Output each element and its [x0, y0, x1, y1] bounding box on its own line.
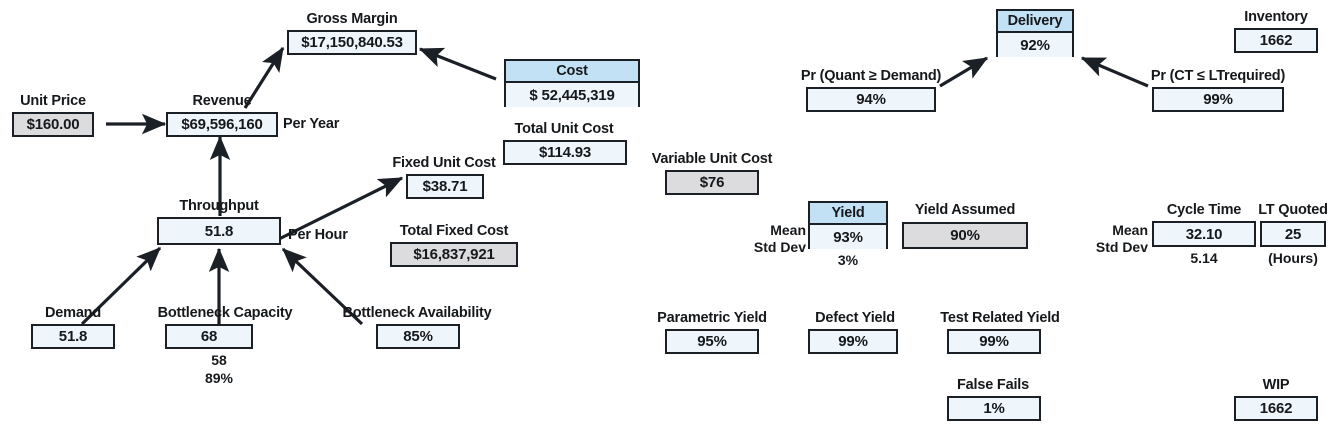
delivery-header: Delivery: [998, 11, 1072, 33]
cost-group[interactable]: Cost $ 52,445,319: [504, 59, 640, 107]
unit-price-label: Unit Price: [20, 94, 86, 109]
throughput-label: Throughput: [179, 199, 258, 214]
inventory-value[interactable]: 1662: [1234, 28, 1318, 53]
revenue-value[interactable]: $69,596,160: [166, 112, 278, 137]
pr-quant-demand-label: Pr (Quant ≥ Demand): [801, 69, 941, 84]
yield-stddev-label: Std Dev: [754, 239, 806, 255]
yield-stat-labels: MeanStd Dev: [754, 222, 806, 255]
cycle-time-mean-label: Mean: [1112, 222, 1148, 238]
bottleneck-capacity-sub2: 89%: [205, 371, 233, 385]
edge-cost-to-gross-margin: [420, 49, 496, 79]
unit-price-value[interactable]: $160.00: [12, 112, 94, 137]
cost-header: Cost: [506, 61, 638, 83]
total-unit-cost-label: Total Unit Cost: [514, 122, 613, 137]
yield-group[interactable]: Yield 93%: [808, 201, 888, 249]
edge-pr-quant-to-delivery: [940, 58, 987, 86]
defect-yield-label: Defect Yield: [815, 311, 895, 326]
demand-label: Demand: [45, 306, 101, 321]
cycle-time-value[interactable]: 32.10: [1152, 221, 1256, 247]
delivery-value[interactable]: 92%: [998, 33, 1072, 57]
bottleneck-availability-label: Bottleneck Availability: [342, 306, 491, 321]
bottleneck-availability-value[interactable]: 85%: [376, 324, 460, 349]
cycle-time-stat-labels: MeanStd Dev: [1096, 222, 1148, 255]
defect-yield-value[interactable]: 99%: [808, 329, 898, 354]
lt-quoted-label: LT Quoted: [1258, 203, 1328, 218]
throughput-suffix: Per Hour: [288, 228, 348, 243]
test-related-yield-label: Test Related Yield: [940, 311, 1059, 326]
false-fails-value[interactable]: 1%: [947, 396, 1041, 421]
gross-margin-label: Gross Margin: [306, 12, 397, 27]
yield-mean-label: Mean: [770, 222, 806, 238]
gross-margin-value[interactable]: $17,150,840.53: [287, 30, 417, 55]
false-fails-label: False Fails: [957, 378, 1029, 393]
parametric-yield-value[interactable]: 95%: [665, 329, 759, 354]
yield-header: Yield: [810, 203, 886, 225]
total-unit-cost-value[interactable]: $114.93: [503, 140, 627, 165]
diagram-canvas: Gross Margin $17,150,840.53 Cost $ 52,44…: [0, 0, 1334, 429]
delivery-group[interactable]: Delivery 92%: [996, 9, 1074, 57]
pr-quant-demand-value[interactable]: 94%: [806, 87, 936, 112]
bottleneck-capacity-sub1: 58: [211, 353, 227, 367]
connector-layer: [0, 0, 1334, 429]
lt-quoted-value[interactable]: 25: [1260, 221, 1326, 247]
pr-ct-lt-value[interactable]: 99%: [1152, 87, 1284, 112]
lt-quoted-units: (Hours): [1268, 251, 1318, 265]
cycle-time-label: Cycle Time: [1167, 203, 1241, 218]
yield-value[interactable]: 93%: [810, 225, 886, 249]
wip-label: WIP: [1263, 378, 1290, 393]
revenue-label: Revenue: [192, 94, 251, 109]
total-fixed-cost-value[interactable]: $16,837,921: [390, 242, 518, 267]
yield-std-dev: 3%: [838, 253, 858, 267]
wip-value[interactable]: 1662: [1234, 396, 1318, 421]
test-related-yield-value[interactable]: 99%: [947, 329, 1041, 354]
inventory-label: Inventory: [1244, 10, 1307, 25]
cycle-time-stddev-label: Std Dev: [1096, 239, 1148, 255]
fixed-unit-cost-value[interactable]: $38.71: [406, 174, 484, 199]
cycle-time-std-dev: 5.14: [1190, 251, 1217, 265]
fixed-unit-cost-label: Fixed Unit Cost: [392, 156, 495, 171]
revenue-suffix: Per Year: [283, 117, 339, 132]
edge-pr-ct-to-delivery: [1082, 58, 1148, 86]
demand-value[interactable]: 51.8: [31, 324, 115, 349]
yield-assumed-value[interactable]: 90%: [902, 222, 1028, 249]
yield-assumed-label: Yield Assumed: [915, 203, 1015, 218]
throughput-value[interactable]: 51.8: [157, 217, 281, 245]
variable-unit-cost-label: Variable Unit Cost: [652, 152, 773, 167]
pr-ct-lt-label: Pr (CT ≤ LTrequired): [1151, 69, 1285, 84]
total-fixed-cost-label: Total Fixed Cost: [400, 224, 509, 239]
parametric-yield-label: Parametric Yield: [657, 311, 767, 326]
bottleneck-capacity-value[interactable]: 68: [165, 324, 253, 349]
bottleneck-capacity-label: Bottleneck Capacity: [158, 306, 293, 321]
variable-unit-cost-value[interactable]: $76: [665, 170, 759, 195]
cost-value[interactable]: $ 52,445,319: [506, 83, 638, 107]
